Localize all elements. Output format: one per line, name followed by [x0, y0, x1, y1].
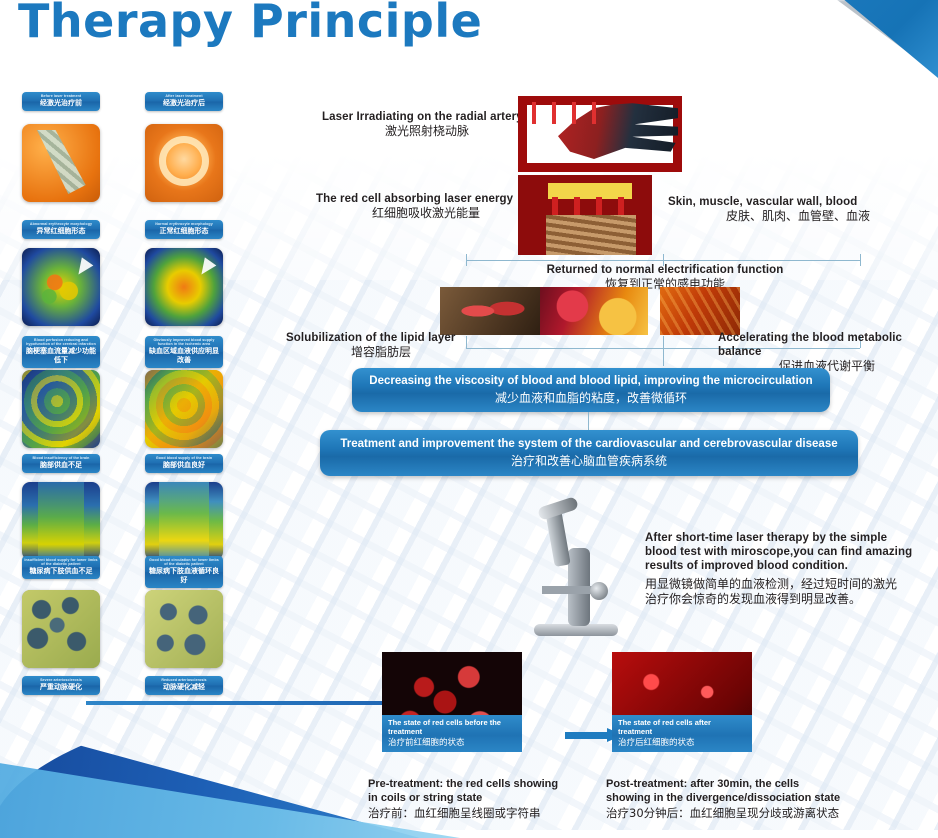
post-treatment-caption-en-1: Post-treatment: after 30min, the cells	[606, 778, 926, 792]
comparison-image-3-right	[145, 482, 223, 560]
label-en: The state of red cells before the treatm…	[388, 718, 516, 736]
label-cn: 严重动脉硬化	[24, 683, 98, 692]
comparison-label-5-right: Reduced arteriosclerosis 动脉硬化减轻	[145, 676, 223, 695]
label-en: Reduced arteriosclerosis	[147, 678, 221, 682]
comparison-label-2-left: Blood perfusion reducing and hypofunctio…	[22, 336, 100, 368]
comparison-label-1-right: Normal erythrocyte morphology 正常红细胞形态	[145, 220, 223, 239]
flow-step2-text: The red cell absorbing laser energy 红细胞吸…	[316, 192, 536, 221]
comparison-label-1-left: Abnormal erythrocyte morphology 异常红细胞形态	[22, 220, 100, 239]
flow-step1-cn: 激光照射桡动脉	[322, 124, 532, 139]
red-cell-absorbing-image	[518, 175, 652, 255]
label-en: Severe arteriosclerosis	[24, 678, 98, 682]
flow-step2-en: The red cell absorbing laser energy	[316, 192, 536, 206]
label-cn: 缺血区域血液供应明显改善	[147, 347, 221, 365]
comparison-label-3-right: Good blood supply of the brain 脑部供血良好	[145, 454, 223, 473]
red-cells-before-image: The state of red cells before the treatm…	[382, 652, 522, 752]
label-cn: 脑梗塞血流量减少功能低下	[24, 347, 98, 365]
connector-tick-8	[588, 412, 589, 430]
label-cn: 脑部供血良好	[147, 461, 221, 470]
label-en: Insufficient blood supply for lower limb…	[24, 558, 98, 567]
pre-treatment-caption-en-2: in coils or string state	[368, 792, 598, 806]
blood-cell-image-2	[540, 287, 648, 335]
label-cn: 经激光治疗前	[24, 99, 98, 108]
label-cn: 经激光治疗后	[147, 99, 221, 108]
pointer-arrow-icon	[73, 257, 94, 278]
flow-step4-left-en: Solubilization of the lipid layer	[286, 331, 476, 345]
comparison-label-2-right: Obviously improved blood supply function…	[145, 336, 223, 368]
label-en: After laser treatment	[147, 94, 221, 98]
outcome-bar-2-en: Treatment and improvement the system of …	[320, 437, 858, 452]
flow-step1-text: Laser Irradiating on the radial artery 激…	[322, 110, 532, 139]
microscope-icon	[520, 500, 630, 640]
comparison-image-0-left	[22, 124, 100, 202]
comparison-image-3-left	[22, 482, 100, 560]
comparison-image-2-left	[22, 370, 100, 448]
label-en: Good blood circulation for lower limbs o…	[147, 558, 221, 567]
label-en: The state of red cells after treatment	[618, 718, 746, 736]
flow-step1-en: Laser Irradiating on the radial artery	[322, 110, 532, 124]
label-en: Normal erythrocyte morphology	[147, 222, 221, 226]
comparison-label-4-left: Insufficient blood supply for lower limb…	[22, 556, 100, 579]
post-treatment-caption-cn: 治疗30分钟后：血红细胞呈现分歧或游离状态	[606, 805, 926, 821]
flow-step2-right-cn: 皮肤、肌肉、血管壁、血液	[668, 209, 928, 224]
connector-tick-5	[663, 336, 664, 348]
comparison-image-4-right	[145, 590, 223, 668]
label-cn: 脑部供血不足	[24, 461, 98, 470]
comparison-label-5-left: Severe arteriosclerosis 严重动脉硬化	[22, 676, 100, 695]
outcome-bar-2: Treatment and improvement the system of …	[320, 430, 858, 476]
microscope-en-line1: After short-time laser therapy by the si…	[645, 531, 935, 545]
comparison-label-0-left: Before laser treatment 经激光治疗前	[22, 92, 100, 111]
comparison-image-1-right	[145, 248, 223, 326]
flow-step4-right-en: Accelerating the blood metabolic balance	[718, 331, 936, 359]
flow-step2-right-en: Skin, muscle, vascular wall, blood	[668, 195, 928, 209]
comparison-image-0-right	[145, 124, 223, 202]
label-en: Good blood supply of the brain	[147, 456, 221, 460]
comparison-label-4-right: Good blood circulation for lower limbs o…	[145, 556, 223, 588]
comparison-label-3-left: Blood insufficiency of the brain 脑部供血不足	[22, 454, 100, 473]
pointer-arrow-icon	[196, 257, 217, 278]
label-en: Obviously improved blood supply function…	[147, 338, 221, 347]
flow-step2-right-text: Skin, muscle, vascular wall, blood 皮肤、肌肉…	[668, 195, 928, 224]
flow-step2-cn: 红细胞吸收激光能量	[316, 206, 536, 221]
red-cells-before-label: The state of red cells before the treatm…	[382, 715, 522, 752]
outcome-bar-1-cn: 减少血液和血脂的粘度，改善微循环	[352, 389, 830, 407]
flow-step3-en: Returned to normal electrification funct…	[455, 263, 875, 277]
label-cn: 治疗后红细胞的状态	[618, 737, 746, 748]
post-treatment-caption-en-2: showing in the divergence/dissociation s…	[606, 792, 926, 806]
outcome-bar-1: Decreasing the viscosity of blood and bl…	[352, 368, 830, 412]
pre-treatment-caption-cn: 治疗前：血红细胞呈线圈或字符串	[368, 805, 598, 821]
label-cn: 糖尿病下肢供血不足	[24, 567, 98, 576]
label-cn: 异常红细胞形态	[24, 227, 98, 236]
pre-treatment-caption: Pre-treatment: the red cells showing in …	[368, 778, 598, 821]
pre-treatment-caption-en-1: Pre-treatment: the red cells showing	[368, 778, 598, 792]
blood-cell-image-3	[660, 287, 740, 335]
microscope-en-line2: blood test with miroscope,you can find a…	[645, 545, 935, 559]
label-cn: 动脉硬化减轻	[147, 683, 221, 692]
red-cells-after-label: The state of red cells after treatment 治…	[612, 715, 752, 752]
connector-tick-7	[663, 348, 664, 366]
post-treatment-caption: Post-treatment: after 30min, the cells s…	[606, 778, 926, 821]
microscope-en-line3: results of improved blood condition.	[645, 559, 935, 573]
label-cn: 糖尿病下肢血液循环良好	[147, 567, 221, 585]
label-en: Abnormal erythrocyte morphology	[24, 222, 98, 226]
comparison-image-4-left	[22, 590, 100, 668]
red-cells-after-image: The state of red cells after treatment 治…	[612, 652, 752, 752]
page-title: Therapy Principle	[18, 0, 482, 48]
label-en: Blood perfusion reducing and hypofunctio…	[24, 338, 98, 347]
label-en: Blood insufficiency of the brain	[24, 456, 98, 460]
label-cn: 正常红细胞形态	[147, 227, 221, 236]
comparison-image-2-right	[145, 370, 223, 448]
flow-step4-left-cn: 增容脂肪层	[286, 345, 476, 360]
outcome-bar-1-en: Decreasing the viscosity of blood and bl…	[352, 374, 830, 389]
microscope-description: After short-time laser therapy by the si…	[645, 531, 935, 607]
flow-step4-left-text: Solubilization of the lipid layer 增容脂肪层	[286, 331, 476, 360]
label-cn: 治疗前红细胞的状态	[388, 737, 516, 748]
blood-cell-image-1	[440, 287, 548, 335]
label-en: Before laser treatment	[24, 94, 98, 98]
comparison-label-0-right: After laser treatment 经激光治疗后	[145, 92, 223, 111]
outcome-bar-2-cn: 治疗和改善心脑血管疾病系统	[320, 452, 858, 470]
hand-radial-artery-image	[518, 96, 682, 172]
microscope-cn-line2: 治疗你会惊奇的发现血液得到明显改善。	[645, 592, 935, 607]
comparison-image-1-left	[22, 248, 100, 326]
microscope-cn-line1: 用显微镜做简单的血液检测，经过短时间的激光	[645, 577, 935, 592]
